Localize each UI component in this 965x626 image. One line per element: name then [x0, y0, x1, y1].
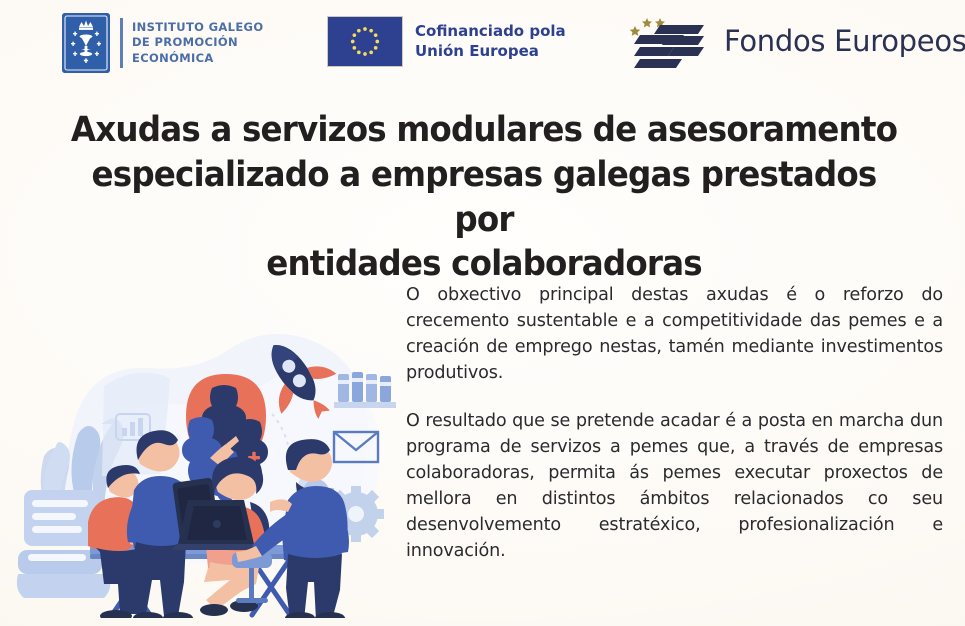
- eu-flag-icon: [327, 16, 403, 67]
- team-collaboration-illustration: [4, 296, 396, 618]
- page-title: Axudas a servizos modulares de asesorame…: [66, 108, 903, 287]
- logo-european-union: Cofinanciado pola Unión Europea: [327, 16, 566, 67]
- page-canvas: INSTITUTO GALEGO DE PROMOCIÓN ECONÓMICA: [0, 0, 965, 626]
- igape-logo-text: INSTITUTO GALEGO DE PROMOCIÓN ECONÓMICA: [132, 20, 263, 66]
- body-text-column: O obxectivo principal destas axudas é o …: [406, 283, 943, 565]
- logo-igape: INSTITUTO GALEGO DE PROMOCIÓN ECONÓMICA: [62, 13, 263, 73]
- logo-fondos-europeos: Fondos Europeos: [618, 9, 965, 73]
- xunta-galicia-coat-of-arms-icon: [62, 13, 110, 73]
- header-logo-bar: INSTITUTO GALEGO DE PROMOCIÓN ECONÓMICA: [0, 0, 965, 90]
- eu-logo-text: Cofinanciado pola Unión Europea: [415, 22, 566, 60]
- stepped-bars-with-stars-icon: [618, 9, 716, 73]
- logo-divider-rule: [120, 18, 123, 68]
- paragraph-1: O obxectivo principal destas axudas é o …: [406, 283, 943, 386]
- paragraph-2: O resultado que se pretende acadar é a p…: [406, 409, 943, 564]
- fondos-europeos-logo-text: Fondos Europeos: [724, 24, 965, 58]
